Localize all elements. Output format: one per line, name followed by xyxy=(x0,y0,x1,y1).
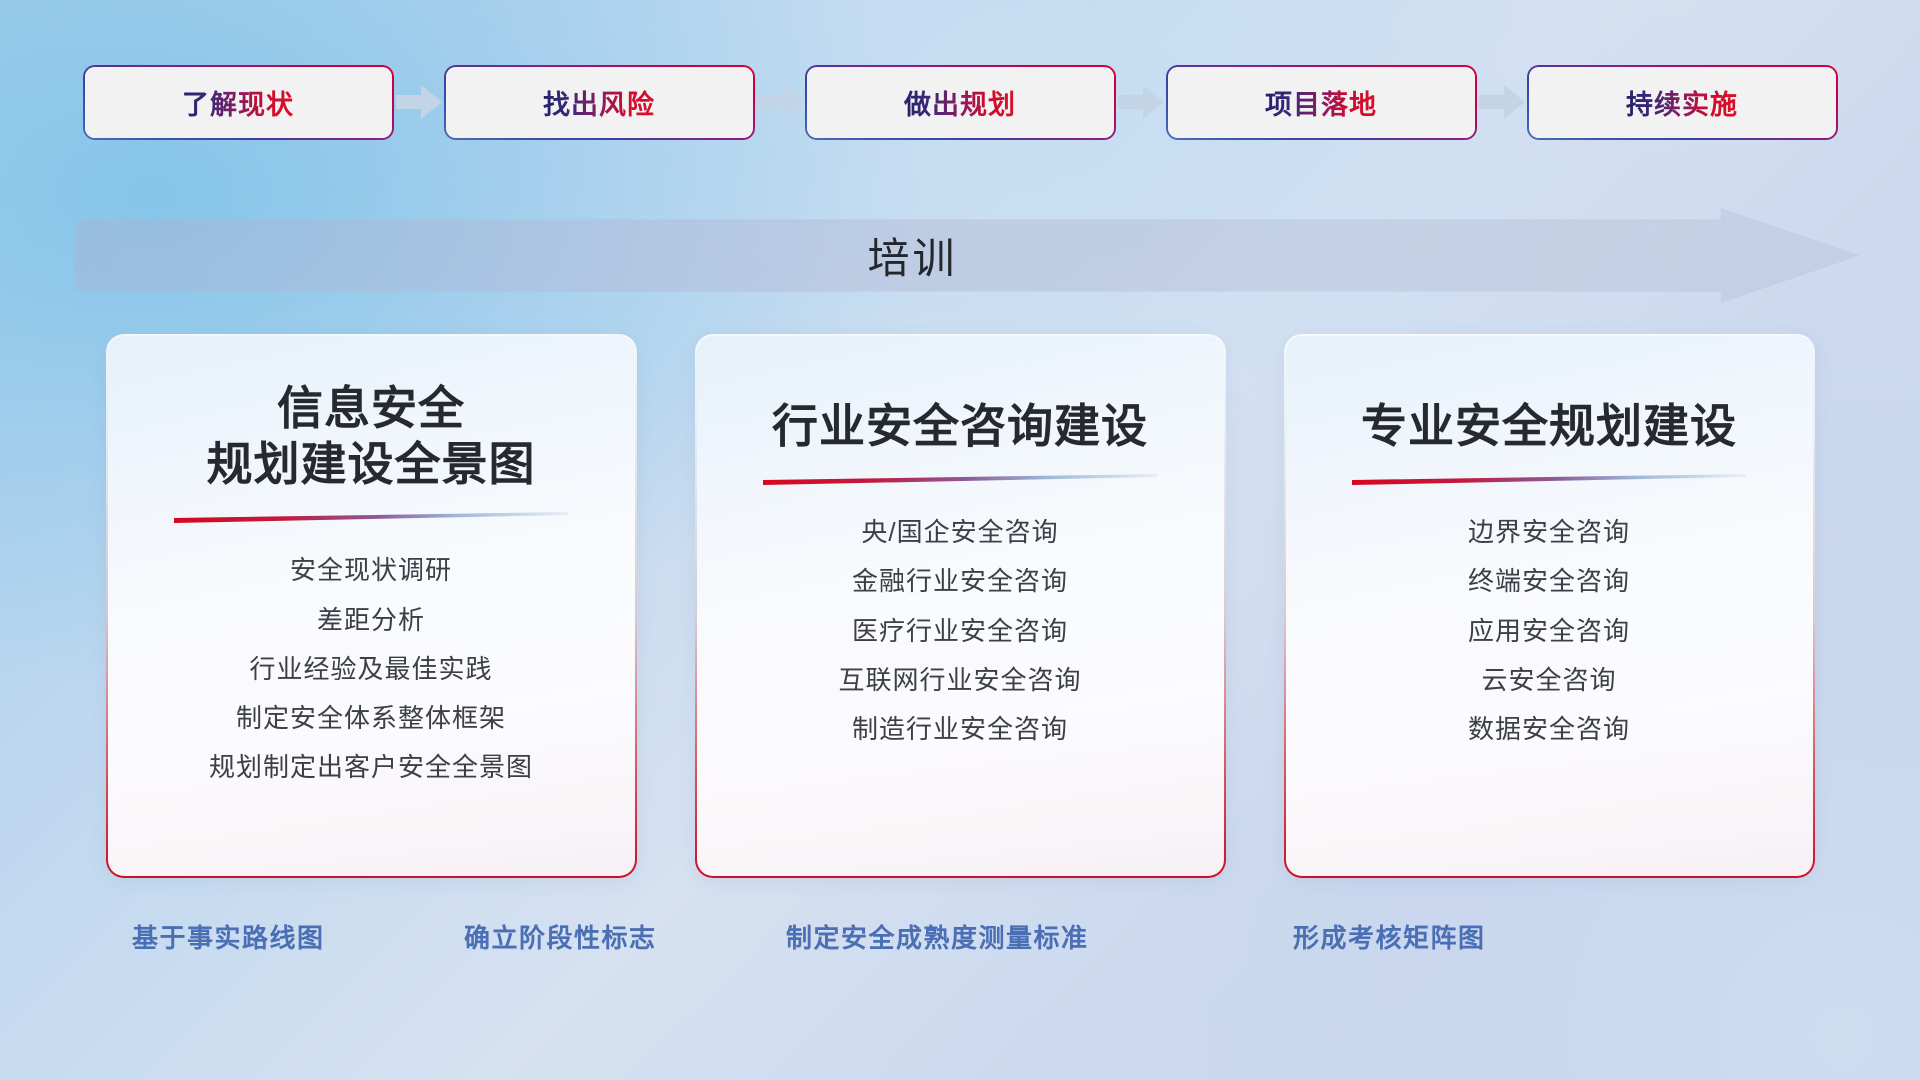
step-box-3[interactable]: 做出规划 xyxy=(807,67,1114,138)
training-banner: 培训 xyxy=(75,208,1860,303)
step-box-5[interactable]: 持续实施 xyxy=(1529,67,1836,138)
list-item: 差距分析 xyxy=(317,600,425,640)
card-list: 央/国企安全咨询 金融行业安全咨询 医疗行业安全咨询 互联网行业安全咨询 制造行… xyxy=(838,512,1081,749)
card-list: 安全现状调研 差距分析 行业经验及最佳实践 制定安全体系整体框架 规划制定出客户… xyxy=(209,550,533,787)
footnote-label: 确立阶段性标志 xyxy=(464,918,657,955)
list-item: 安全现状调研 xyxy=(290,550,452,590)
card-divider xyxy=(1352,474,1746,486)
arrow-right-icon xyxy=(392,67,446,137)
list-item: 云安全咨询 xyxy=(1481,660,1616,700)
list-item: 数据安全咨询 xyxy=(1468,709,1630,749)
list-item: 制造行业安全咨询 xyxy=(852,709,1068,749)
list-item: 行业经验及最佳实践 xyxy=(249,649,492,689)
card-industry-security-consulting[interactable]: 行业安全咨询建设 央/国企安全咨询 金融行业安全咨询 医疗行业安全咨询 xyxy=(697,336,1224,876)
list-item: 医疗行业安全咨询 xyxy=(852,611,1068,651)
card-row: 信息安全 规划建设全景图 安全现状调研 差距分析 行业经验及最佳实践 xyxy=(0,336,1920,876)
arrow-right-icon xyxy=(1114,67,1168,137)
card-title: 行业安全咨询建设 xyxy=(772,398,1148,454)
step-label: 找出风险 xyxy=(543,83,655,122)
list-item: 规划制定出客户安全全景图 xyxy=(209,747,533,787)
step-box-4[interactable]: 项目落地 xyxy=(1168,67,1475,138)
list-item: 互联网行业安全咨询 xyxy=(838,660,1081,700)
list-item: 终端安全咨询 xyxy=(1468,561,1630,601)
footnote-label: 制定安全成熟度测量标准 xyxy=(786,918,1089,955)
card-title: 信息安全 规划建设全景图 xyxy=(207,380,536,492)
list-item: 央/国企安全咨询 xyxy=(861,512,1058,552)
step-label: 项目落地 xyxy=(1265,83,1377,122)
card-information-security-blueprint[interactable]: 信息安全 规划建设全景图 安全现状调研 差距分析 行业经验及最佳实践 xyxy=(108,336,635,876)
step-label: 了解现状 xyxy=(182,83,294,122)
card-divider xyxy=(174,512,568,524)
card-professional-security-planning[interactable]: 专业安全规划建设 边界安全咨询 终端安全咨询 应用安全咨询 云安全 xyxy=(1286,336,1813,876)
footnote-label: 形成考核矩阵图 xyxy=(1293,918,1486,955)
list-item: 边界安全咨询 xyxy=(1468,512,1630,552)
list-item: 金融行业安全咨询 xyxy=(852,561,1068,601)
step-label: 持续实施 xyxy=(1626,83,1738,122)
card-divider xyxy=(763,474,1157,486)
card-list: 边界安全咨询 终端安全咨询 应用安全咨询 云安全咨询 数据安全咨询 xyxy=(1468,512,1630,749)
footnote-label: 基于事实路线图 xyxy=(132,918,325,955)
step-box-2[interactable]: 找出风险 xyxy=(446,67,753,138)
list-item: 制定安全体系整体框架 xyxy=(236,698,506,738)
process-step-row: 了解现状 找出风险 做出规划 项目落地 持续实施 xyxy=(0,63,1920,141)
step-box-1[interactable]: 了解现状 xyxy=(85,67,392,138)
card-title: 专业安全规划建设 xyxy=(1361,398,1737,454)
banner-title: 培训 xyxy=(75,208,1860,303)
arrow-right-icon xyxy=(1475,67,1529,137)
footnote-row: 基于事实路线图 确立阶段性标志 制定安全成熟度测量标准 形成考核矩阵图 xyxy=(0,918,1920,966)
step-label: 做出规划 xyxy=(904,83,1016,122)
arrow-right-icon xyxy=(753,67,807,137)
list-item: 应用安全咨询 xyxy=(1468,611,1630,651)
